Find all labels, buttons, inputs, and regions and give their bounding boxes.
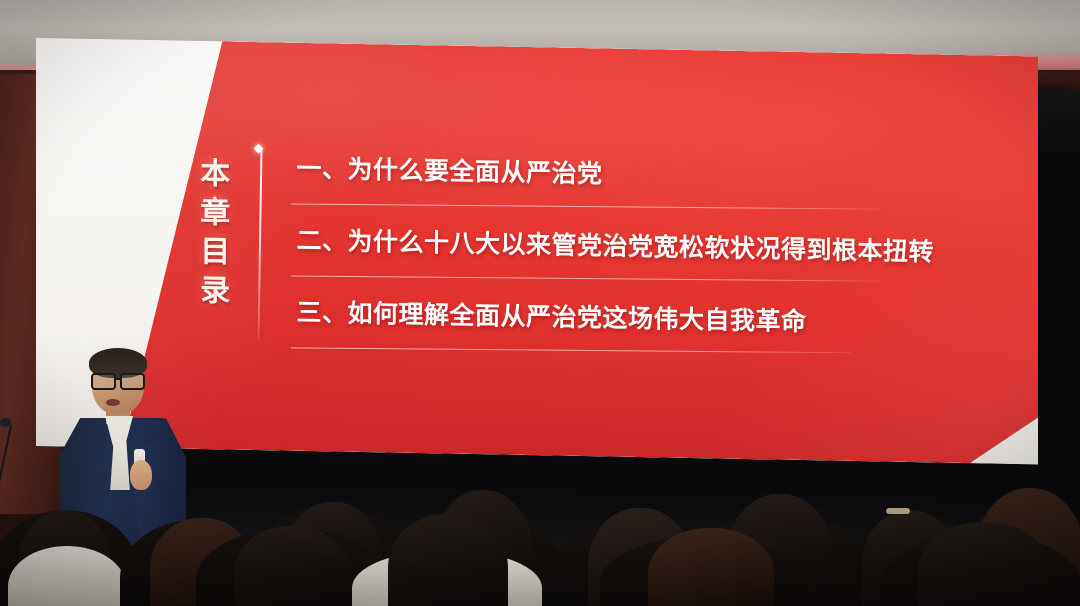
glasses-icon	[89, 373, 147, 387]
speaker-presenter	[56, 352, 196, 552]
toc-item-label: 二、为什么十八大以来管党治党宽松软状况得到根本扭转	[297, 220, 935, 268]
toc-item: 二、为什么十八大以来管党治党宽松软状况得到根本扭转	[297, 214, 998, 299]
tiled-wall-section	[380, 560, 810, 606]
microphone-icon	[0, 418, 11, 427]
vertical-divider-rule	[258, 148, 263, 340]
glasses-lens-left	[91, 373, 116, 390]
speaker-hand	[130, 460, 152, 490]
toc-item-divider	[291, 347, 852, 353]
toc-item-label: 三、如何理解全面从严治党这场伟大自我革命	[297, 292, 807, 337]
slide-vertical-title: 本章目录	[189, 157, 233, 314]
lecture-hall-scene: 本章目录 一、为什么要全面从严治党 二、为什么十八大以来管党治党宽松软状况得到根…	[0, 0, 1080, 606]
speaker-mouth	[106, 399, 120, 406]
toc-item-divider	[291, 203, 880, 209]
glasses-lens-right	[120, 373, 145, 390]
toc-item-divider	[291, 275, 880, 281]
slide-toc-list: 一、为什么要全面从严治党 二、为什么十八大以来管党治党宽松软状况得到根本扭转 三…	[297, 142, 998, 371]
toc-item: 一、为什么要全面从严治党	[297, 142, 998, 227]
toc-item: 三、如何理解全面从严治党这场伟大自我革命	[297, 286, 998, 371]
toc-item-label: 一、为什么要全面从严治党	[297, 148, 603, 190]
